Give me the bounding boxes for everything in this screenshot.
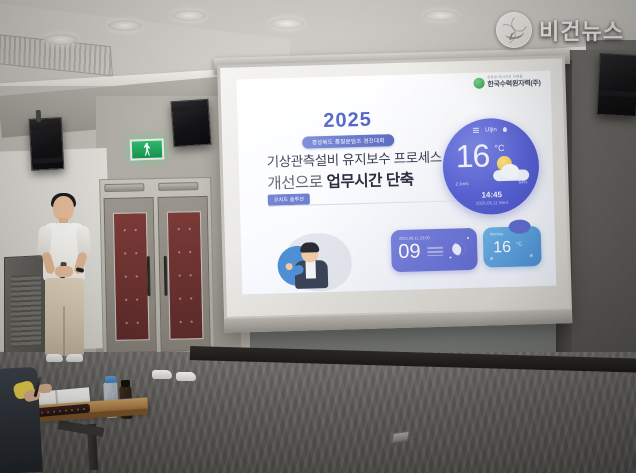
presentation-slide: 친환경 에너지로 미래를 한국수력원자력(주) 2025 경상북도 품질분임조 … (236, 71, 556, 295)
door-closer (104, 183, 144, 192)
day-card-blob (508, 219, 530, 234)
door-panel (113, 212, 150, 341)
door-closer (158, 182, 198, 191)
day-card-label: Monday (490, 232, 504, 236)
coffee-bottle-cap (121, 380, 130, 387)
khnp-leaf-icon (473, 78, 484, 89)
ceiling-speaker-left (29, 117, 65, 171)
weather-day-card: Monday 16 °C ❄ ❄ (483, 226, 542, 268)
snowflake-icon: ❄ (489, 256, 493, 262)
hamburger-icon[interactable] (473, 127, 479, 135)
door-right[interactable] (158, 196, 211, 352)
weather-metrics: 2.1m/s 64% (455, 179, 527, 186)
star-icon (467, 237, 469, 239)
screen-surface: 친환경 에너지로 미래를 한국수력원자력(주) 2025 경상북도 품질분임조 … (220, 58, 569, 316)
weather-location: Uljin (485, 127, 497, 133)
presenter-shoe (46, 354, 63, 362)
presenter-pants (45, 278, 84, 356)
door-left[interactable] (104, 197, 157, 353)
day-card-value: 16 (493, 240, 511, 256)
weather-unit: °C (494, 143, 504, 153)
event-header: 2025 경상북도 품질분임조 경진대회 (289, 109, 406, 150)
snowflake-icon: ❄ (529, 253, 533, 259)
event-year: 2025 (289, 109, 406, 132)
star-icon (449, 257, 451, 259)
weather-temperature: 16 (455, 139, 489, 172)
downlight (270, 18, 304, 29)
corporate-logo: 친환경 에너지로 미래를 한국수력원자력(주) (473, 75, 541, 90)
avatar-hair (300, 242, 319, 253)
shoe (176, 372, 196, 381)
water-bottle-cap (105, 376, 116, 384)
day-card-unit: °C (516, 242, 522, 248)
corp-name: 한국수력원자력(주) (487, 78, 540, 89)
avatar-shirt (305, 260, 315, 278)
humidity-value: 64% (519, 179, 528, 184)
double-entry-door[interactable] (99, 177, 215, 355)
presenter-leg-seam (63, 306, 65, 356)
title-line2-bold: 업무시간 단축 (326, 172, 414, 191)
ceiling-speaker-right (596, 53, 636, 117)
downlight (424, 10, 458, 21)
presenter-shoe (66, 354, 83, 362)
projection-screen: 친환경 에너지로 미래를 한국수력원자력(주) 2025 경상북도 품질분임조 … (217, 55, 572, 333)
crescent-moon-icon (452, 242, 465, 255)
night-card-bars (427, 245, 443, 259)
night-card-value: 09 (398, 241, 421, 262)
shoe (152, 370, 172, 379)
presenter-avatar-group: 발표자 : 최◯◯ (277, 232, 355, 294)
presenter-name-pill: 발표자 : 최◯◯ (284, 293, 337, 295)
vegan-news-circle-logo (496, 12, 532, 48)
door-panel (167, 211, 204, 340)
standing-presenter (36, 196, 94, 371)
room-photo-scene: 친환경 에너지로 미래를 한국수력원자력(주) 2025 경상북도 품질분임조 … (0, 0, 636, 473)
downlight (44, 34, 78, 45)
running-person-icon (143, 143, 150, 156)
speaker-mount (36, 110, 42, 122)
door-handle[interactable] (147, 256, 151, 296)
location-pin-icon (503, 127, 507, 132)
weather-widget-header: Uljin (452, 125, 528, 135)
slide-title-line1: 기상관측설비 유지보수 프로세스 (266, 146, 441, 171)
wind-value: 2.1m/s (455, 181, 468, 186)
sun-behind-cloud-icon (493, 155, 532, 182)
background-shoes (152, 370, 198, 380)
news-watermark: 비건뉴스 (496, 12, 624, 48)
watermark-text: 비건뉴스 (539, 14, 624, 46)
slide-title-line2: 개선으로 업무시간 단축 (267, 168, 414, 194)
weather-main-widget: Uljin 16 °C 2.1m/s 64% 14:45 2025.06.11 … (442, 117, 541, 216)
downlight (172, 10, 206, 21)
ceiling-speaker-mid (170, 99, 211, 148)
weather-night-card: 2025.06.11 23:00 09 (391, 228, 478, 272)
presenter-hands (55, 266, 73, 277)
title-line2-plain: 개선으로 (267, 174, 327, 193)
emergency-exit-sign (130, 138, 165, 160)
downlight (108, 20, 142, 31)
